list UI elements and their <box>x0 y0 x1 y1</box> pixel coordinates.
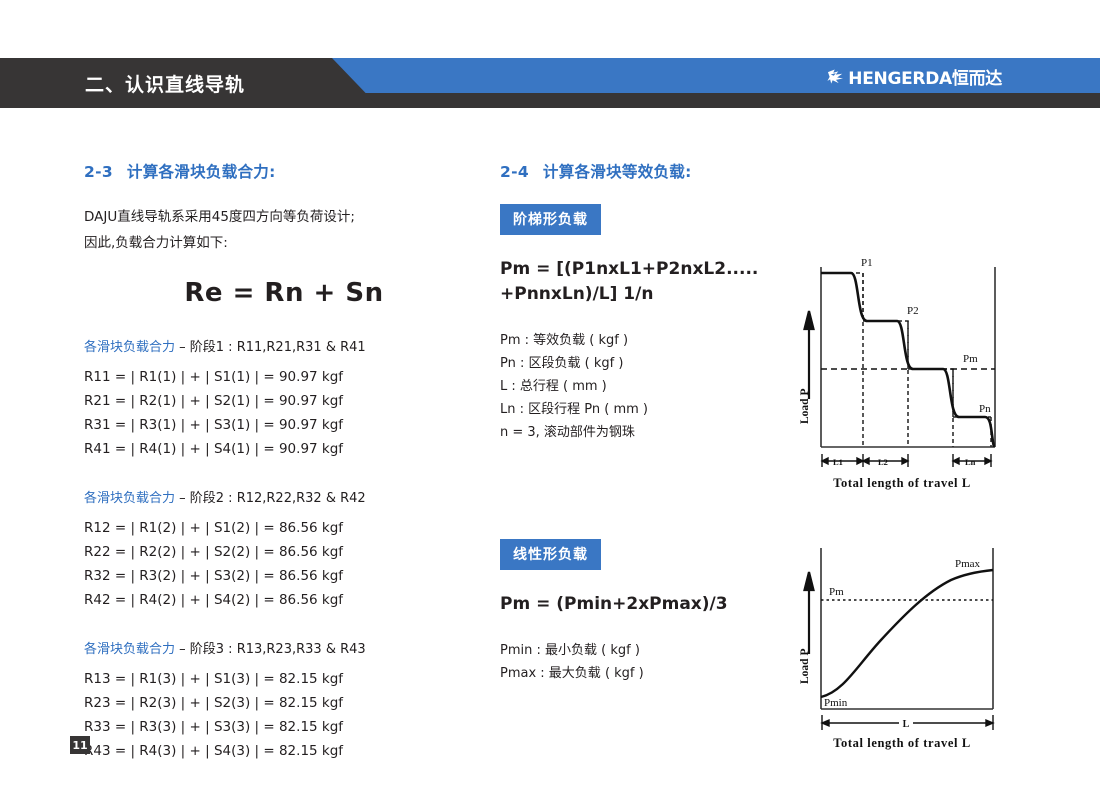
equation-row: R21 = | R2(1) | + | S2(1) | = 90.97 kgf <box>84 389 484 413</box>
load-group-label: 各滑块负载合力 <box>84 642 175 657</box>
load-group-label: 各滑块负载合力 <box>84 491 175 506</box>
equation-row: R41 = | R4(1) | + | S4(1) | = 90.97 kgf <box>84 437 484 461</box>
legend-item: L : 总行程 ( mm ) <box>500 375 800 398</box>
equation-row: R11 = | R1(1) | + | S1(1) | = 90.97 kgf <box>84 365 484 389</box>
load-group-heading: 各滑块负载合力 – 阶段3 : R13,R23,R33 & R43 <box>84 638 484 657</box>
chart2-y-title: Load P <box>799 649 811 684</box>
load-group-stage: – 阶段3 : R13,R23,R33 & R43 <box>175 642 366 657</box>
step-load-text: 阶梯形负载 Pm = [(P1nxL1+P2nxL2..... +PnnxLn)… <box>500 204 800 444</box>
intro-line: DAJU直线导轨系采用45度四方向等负荷设计; <box>84 204 484 230</box>
legend-item: Pmax : 最大负载 ( kgf ) <box>500 662 800 685</box>
linear-load-chart: Pmin Pmax Pm Load P L Total length of tr… <box>795 534 1010 764</box>
chart1-tick-ln: Ln <box>965 457 976 467</box>
step-load-chart: P1 P2 Pm Pn Load P <box>795 249 1010 504</box>
linear-load-block: 线性形负载 Pm = (Pmin+2xPmax)/3 Pmin : 最小负载 (… <box>500 539 1020 769</box>
page-header: 二、认识直线导轨 HENGERDA恒而达 <box>0 0 1100 108</box>
main-formula: Re = Rn + Sn <box>84 278 484 308</box>
equation-row: R13 = | R1(3) | + | S1(3) | = 82.15 kgf <box>84 667 484 691</box>
chart2-label-pmax: Pmax <box>955 558 981 570</box>
chart1-label-p2: P2 <box>907 305 919 317</box>
chart1-tick-l2: L2 <box>878 457 888 467</box>
brand-name: HENGERDA恒而达 <box>848 64 1002 89</box>
legend-item: Pmin : 最小负载 ( kgf ) <box>500 639 800 662</box>
linear-load-legend: Pmin : 最小负载 ( kgf ) Pmax : 最大负载 ( kgf ) <box>500 639 800 685</box>
equation-row: R22 = | R2(2) | + | S2(2) | = 86.56 kgf <box>84 540 484 564</box>
left-column: 2-3计算各滑块负载合力: DAJU直线导轨系采用45度四方向等负荷设计; 因此… <box>84 160 484 789</box>
load-group-stage: – 阶段2 : R12,R22,R32 & R42 <box>175 491 366 506</box>
equation-row: R31 = | R3(1) | + | S3(1) | = 90.97 kgf <box>84 413 484 437</box>
chart1-y-axis <box>805 311 814 399</box>
chart2-label-pm: Pm <box>829 586 844 598</box>
step-load-block: 阶梯形负载 Pm = [(P1nxL1+P2nxL2..... +PnnxLn)… <box>500 204 1020 469</box>
step-load-legend: Pm : 等效负载 ( kgf ) Pn : 区段负载 ( kgf ) L : … <box>500 329 800 444</box>
legend-item: Ln : 区段行程 Pn ( mm ) <box>500 398 800 421</box>
intro-line: 因此,负载合力计算如下: <box>84 230 484 256</box>
equation-row: R23 = | R2(3) | + | S2(3) | = 82.15 kgf <box>84 691 484 715</box>
chart1-y-title: Load P <box>799 389 811 424</box>
load-group: 各滑块负载合力 – 阶段1 : R11,R21,R31 & R41 R11 = … <box>84 336 484 461</box>
chart2-curve <box>821 570 993 697</box>
load-group: 各滑块负载合力 – 阶段3 : R13,R23,R33 & R43 R13 = … <box>84 638 484 763</box>
linear-load-badge: 线性形负载 <box>500 539 601 570</box>
chart2-label-pmin: Pmin <box>824 697 848 709</box>
linear-load-text: 线性形负载 Pm = (Pmin+2xPmax)/3 Pmin : 最小负载 (… <box>500 539 800 685</box>
chart1-label-p1: P1 <box>861 257 873 269</box>
chapter-title: 二、认识直线导轨 <box>85 70 245 97</box>
chart1-x-title: Total length of travel L <box>833 476 971 490</box>
left-section-number: 2-3 <box>84 163 113 181</box>
chart1-tick-l1: L1 <box>833 457 843 467</box>
load-group: 各滑块负载合力 – 阶段2 : R12,R22,R32 & R42 R12 = … <box>84 487 484 612</box>
step-load-badge: 阶梯形负载 <box>500 204 601 235</box>
left-section-heading: 计算各滑块负载合力: <box>127 163 276 181</box>
load-group-heading: 各滑块负载合力 – 阶段2 : R12,R22,R32 & R42 <box>84 487 484 506</box>
linear-load-formula: Pm = (Pmin+2xPmax)/3 <box>500 592 800 617</box>
page-number: 11 <box>70 736 90 754</box>
eagle-head-icon <box>826 67 845 86</box>
formula-line: Pm = [(P1nxL1+P2nxL2..... <box>500 257 800 282</box>
equation-row: R12 = | R1(2) | + | S1(2) | = 86.56 kgf <box>84 516 484 540</box>
right-section-heading: 计算各滑块等效负载: <box>543 163 692 181</box>
chart2-frame <box>821 548 993 709</box>
chart1-label-pm: Pm <box>963 353 978 365</box>
chart2-y-axis <box>805 572 814 654</box>
load-group-stage: – 阶段1 : R11,R21,R31 & R41 <box>175 340 366 355</box>
legend-item: Pm : 等效负载 ( kgf ) <box>500 329 800 352</box>
left-section-title: 2-3计算各滑块负载合力: <box>84 160 484 182</box>
equation-row: R42 = | R4(2) | + | S4(2) | = 86.56 kgf <box>84 588 484 612</box>
right-section-title: 2-4计算各滑块等效负载: <box>500 160 1020 182</box>
right-section-number: 2-4 <box>500 163 529 181</box>
right-column: 2-4计算各滑块等效负载: 阶梯形负载 Pm = [(P1nxL1+P2nxL2… <box>500 160 1020 769</box>
equation-row: R32 = | R3(2) | + | S3(2) | = 86.56 kgf <box>84 564 484 588</box>
chart1-label-pn: Pn <box>979 403 991 415</box>
brand-logo: HENGERDA恒而达 <box>826 64 1002 89</box>
formula-line: +PnnxLn)/L] 1/n <box>500 282 800 307</box>
chart2-x-title: Total length of travel L <box>833 736 971 750</box>
chart2-tick-l: L <box>903 719 910 730</box>
legend-item: n = 3, 滚动部件为钢珠 <box>500 421 800 444</box>
load-group-heading: 各滑块负载合力 – 阶段1 : R11,R21,R31 & R41 <box>84 336 484 355</box>
equation-row: R43 = | R4(3) | + | S4(3) | = 82.15 kgf <box>84 739 484 763</box>
equation-row: R33 = | R3(3) | + | S3(3) | = 82.15 kgf <box>84 715 484 739</box>
left-intro: DAJU直线导轨系采用45度四方向等负荷设计; 因此,负载合力计算如下: <box>84 204 484 256</box>
load-group-label: 各滑块负载合力 <box>84 340 175 355</box>
step-load-formula: Pm = [(P1nxL1+P2nxL2..... +PnnxLn)/L] 1/… <box>500 257 800 307</box>
formula-line: Pm = (Pmin+2xPmax)/3 <box>500 592 800 617</box>
legend-item: Pn : 区段负载 ( kgf ) <box>500 352 800 375</box>
